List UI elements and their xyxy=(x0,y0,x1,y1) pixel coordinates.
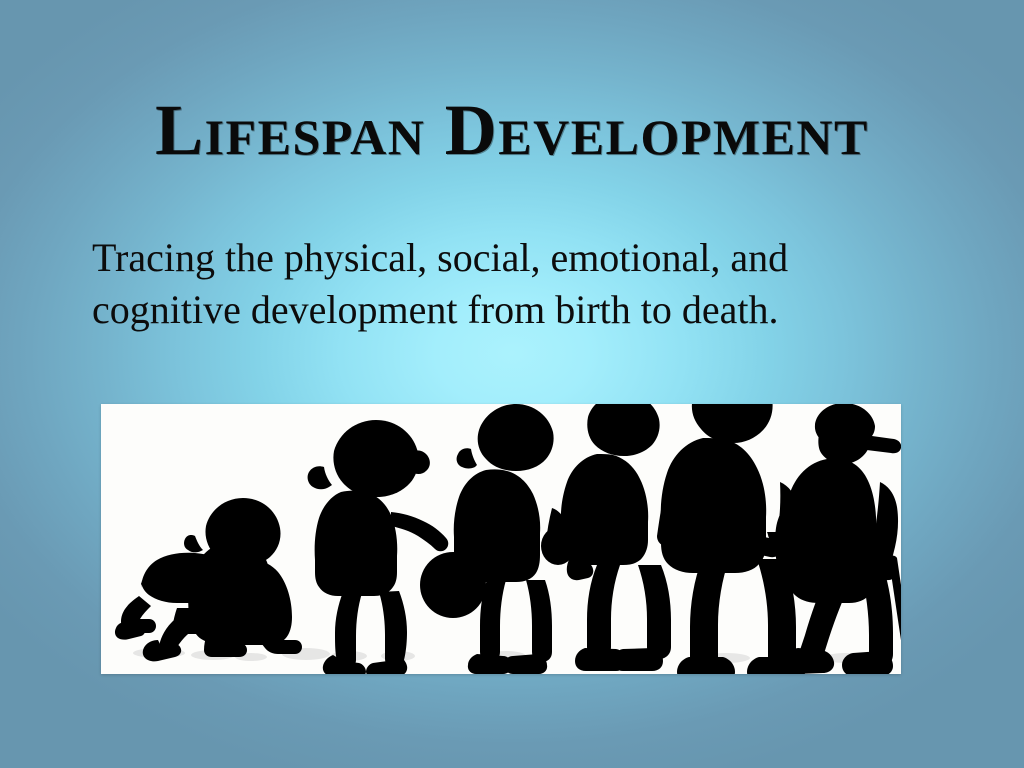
slide-subtitle: Tracing the physical, social, emotional,… xyxy=(92,232,912,336)
presentation-slide: Lifespan Development Tracing the physica… xyxy=(0,0,1024,768)
silhouette-child-holding-ball xyxy=(454,404,575,674)
lifespan-silhouettes-illustration xyxy=(101,404,901,674)
slide-title: Lifespan Development xyxy=(0,92,1024,168)
silhouette-image-panel xyxy=(101,404,901,674)
